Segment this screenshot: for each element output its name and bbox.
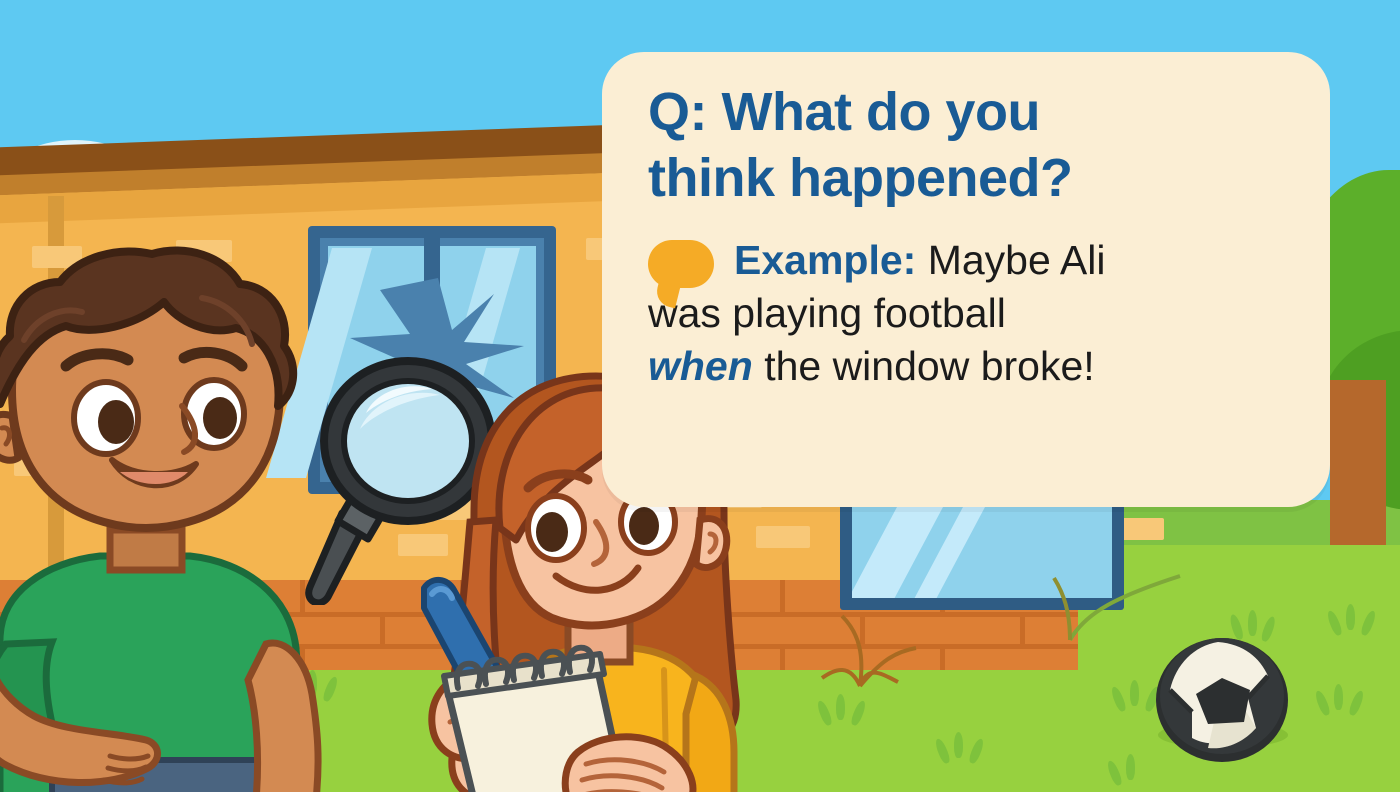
example-line-3-rest: the window broke!: [753, 343, 1095, 389]
example-line-3: when the window broke!: [648, 340, 1308, 393]
example-line-1: Example: Maybe Ali: [648, 234, 1308, 287]
example-line-2: was playing football: [648, 287, 1308, 340]
dry-grass-sprigs: [820, 586, 1000, 696]
example-block: Example: Maybe Ali was playing football …: [648, 234, 1308, 394]
football: [1152, 628, 1292, 768]
speech-bubble-icon: [648, 240, 714, 288]
question-line-1: Q: What do you: [648, 80, 1308, 146]
example-emphasis: when: [648, 343, 753, 389]
example-label: Example:: [734, 237, 916, 283]
example-text: Example: Maybe Ali was playing football …: [648, 234, 1308, 394]
illustration-scene: Q: What do you think happened? Example: …: [0, 0, 1400, 792]
question-text: Q: What do you think happened?: [648, 80, 1308, 212]
bubble-content: Q: What do you think happened? Example: …: [648, 80, 1308, 490]
question-line-2: think happened?: [648, 146, 1308, 212]
example-line-1-rest: Maybe Ali: [916, 237, 1105, 283]
